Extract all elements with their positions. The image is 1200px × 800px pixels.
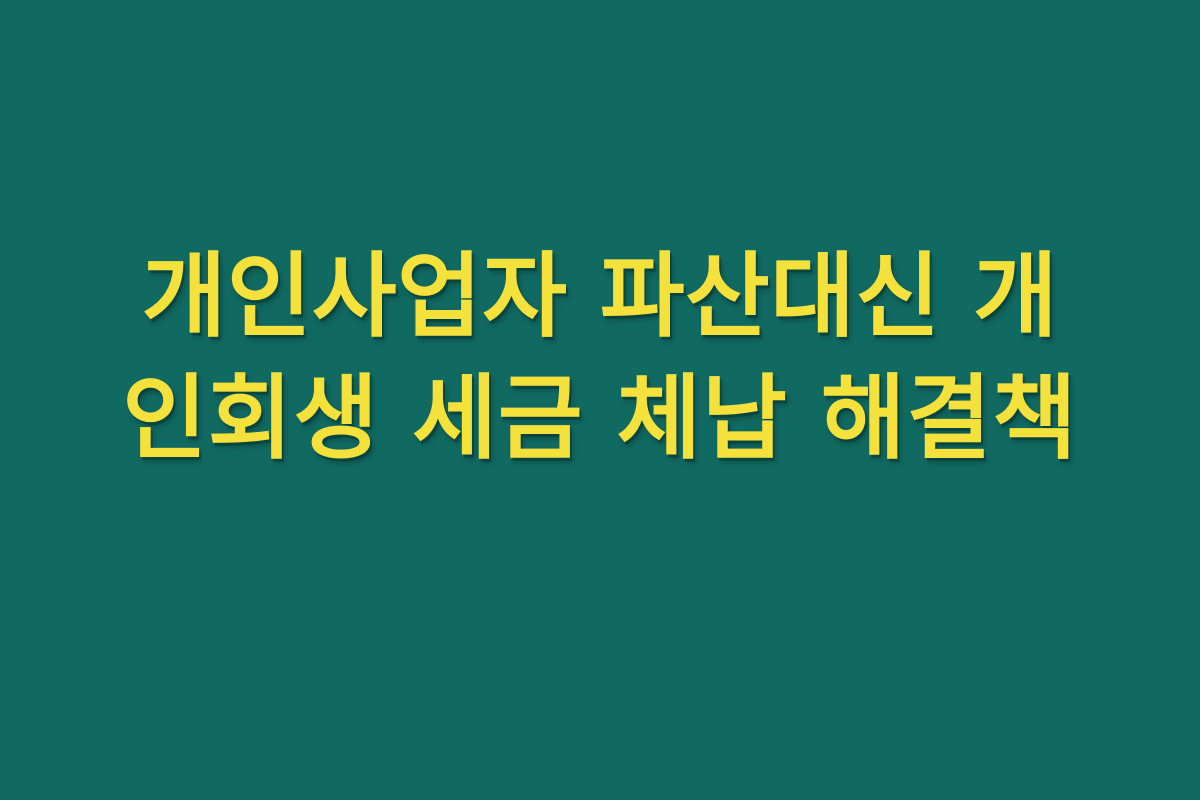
headline-line-1: 개인사업자 파산대신 개 bbox=[80, 236, 1120, 358]
banner-thumbnail: 개인사업자 파산대신 개 인회생 세금 체납 해결책 bbox=[0, 0, 1200, 800]
headline-line-2: 인회생 세금 체납 해결책 bbox=[80, 358, 1120, 480]
headline-block: 개인사업자 파산대신 개 인회생 세금 체납 해결책 bbox=[80, 236, 1120, 481]
